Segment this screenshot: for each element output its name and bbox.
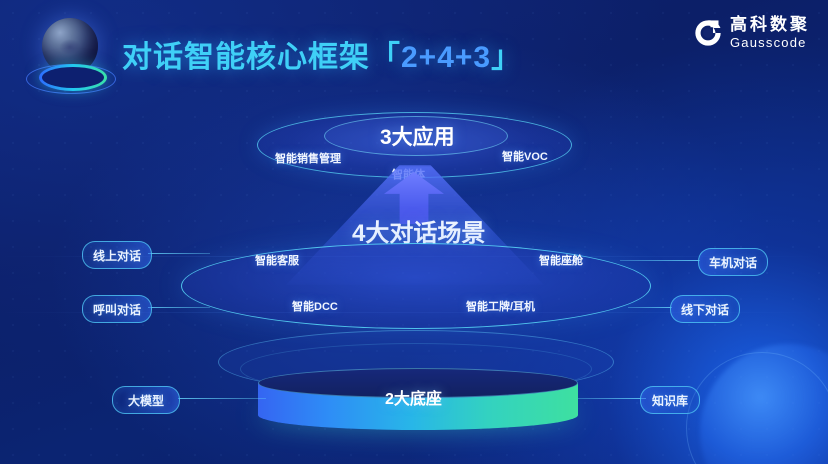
page-title-bracket-open: 「 (370, 41, 401, 74)
top-layer-item-sales: 智能销售管理 (275, 150, 341, 166)
brand-logo: 高科数聚 Gausscode (693, 16, 810, 49)
connector-line-kb (578, 398, 646, 399)
connector-line-llm (178, 398, 266, 399)
brand-text: 高科数聚 Gausscode (730, 16, 810, 49)
tag-offline-dialogue[interactable]: 线下对话 (670, 295, 740, 323)
brand-name-cn: 高科数聚 (730, 16, 810, 33)
sphere-icon (26, 14, 114, 102)
top-layer-item-voc: 智能VOC (502, 148, 548, 164)
connector-line-vehicle (620, 260, 700, 261)
page-title-main: 对话智能核心框架 (122, 41, 370, 74)
middle-layer-item-badge: 智能工牌/耳机 (466, 298, 535, 314)
globe-arc-decoration (686, 352, 828, 464)
top-layer-title: 3大应用 (380, 121, 455, 151)
page-title-bracket-close: 」 (491, 41, 522, 74)
connector-line-online (148, 253, 210, 254)
page-title-formula: 2+4+3 (401, 41, 491, 74)
base-layer-title: 2大底座 (385, 385, 442, 409)
gausscode-mark-icon (693, 18, 723, 48)
page-title: 对话智能核心框架「2+4+3」 (122, 32, 522, 76)
brand-name-en: Gausscode (730, 36, 810, 49)
tag-knowledge-base[interactable]: 知识库 (640, 386, 700, 414)
tag-vehicle-dialogue[interactable]: 车机对话 (698, 248, 768, 276)
sphere-inner-ring (39, 64, 107, 91)
connector-line-call (148, 307, 210, 308)
middle-layer-item-dcc: 智能DCC (292, 298, 338, 314)
middle-layer-item-cockpit: 智能座舱 (539, 252, 583, 268)
tag-large-model[interactable]: 大模型 (112, 386, 180, 414)
middle-layer-item-service: 智能客服 (255, 252, 299, 268)
tag-call-dialogue[interactable]: 呼叫对话 (82, 295, 152, 323)
slide-canvas: 对话智能核心框架「2+4+3」 高科数聚 Gausscode 3大应用 智能销售… (0, 0, 828, 464)
tag-online-dialogue[interactable]: 线上对话 (82, 241, 152, 269)
connector-line-offline (628, 307, 672, 308)
